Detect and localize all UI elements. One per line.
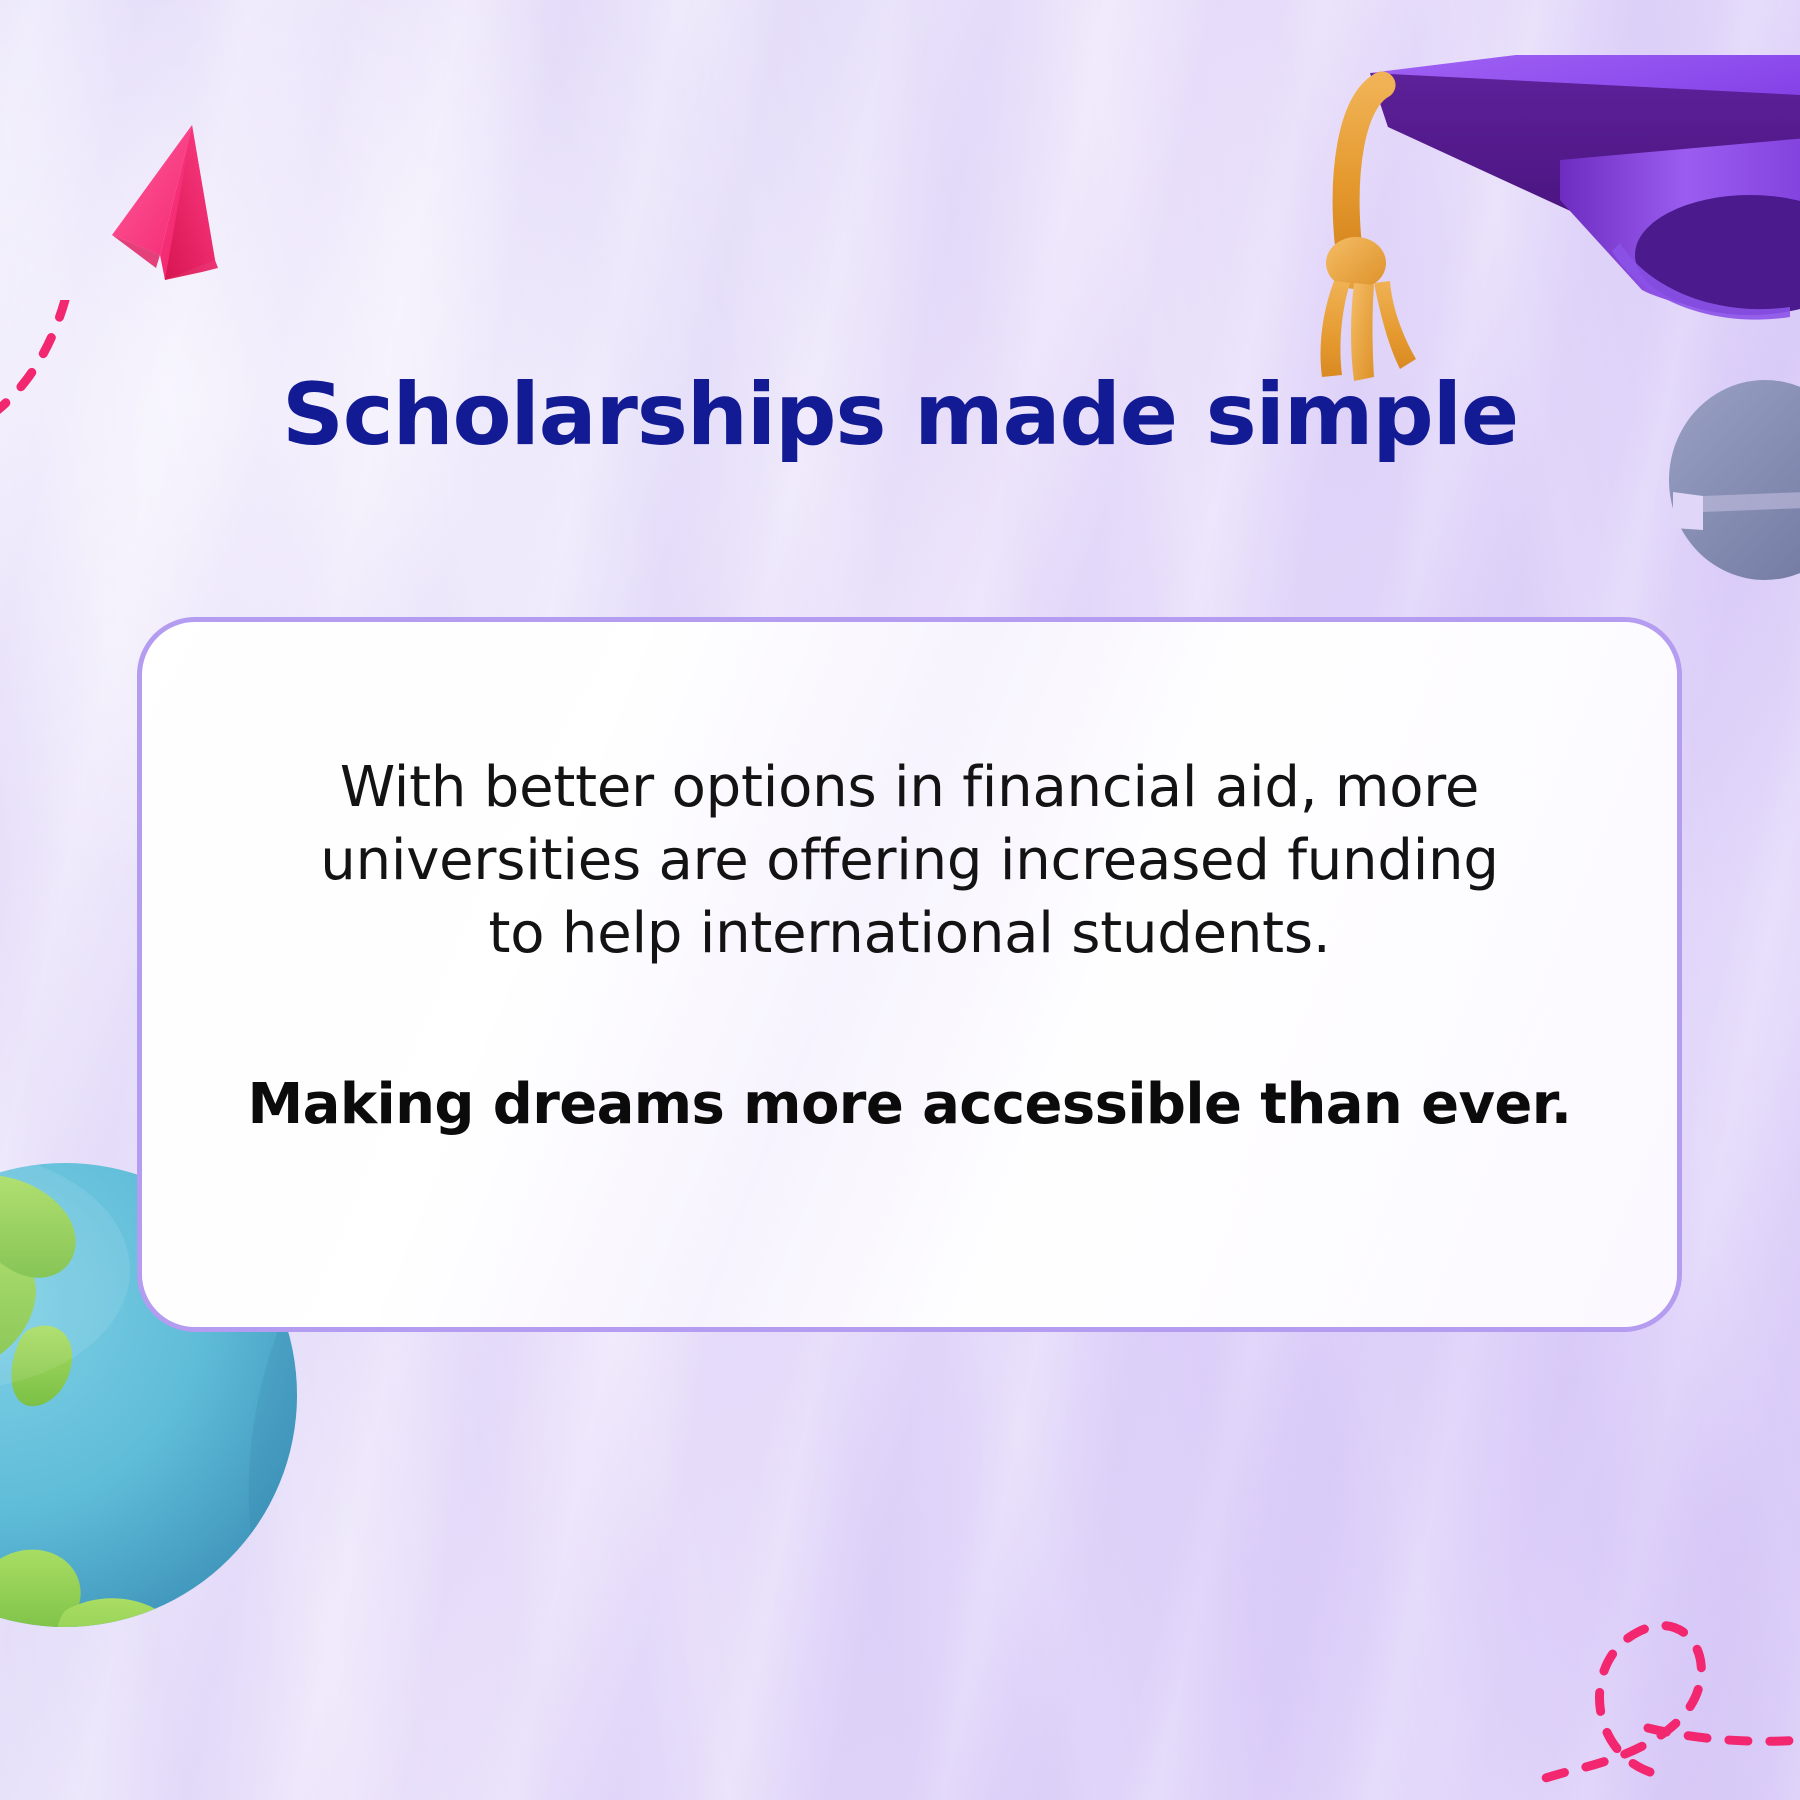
body-line-2: universities are offering increased fund… (142, 825, 1677, 898)
card-body-copy: With better options in financial aid, mo… (142, 752, 1677, 970)
graduation-cap-icon (1320, 55, 1800, 415)
page-title: Scholarships made simple (0, 372, 1800, 458)
paper-plane-icon (70, 120, 245, 325)
body-line-3: to help international students. (142, 898, 1677, 971)
body-line-1: With better options in financial aid, mo… (142, 752, 1677, 825)
content-card: With better options in financial aid, mo… (137, 617, 1682, 1332)
card-tagline: Making dreams more accessible than ever. (142, 1072, 1677, 1137)
dashed-loop-icon (1530, 1540, 1800, 1800)
poster-canvas: Scholarships made simple With better opt… (0, 0, 1800, 1800)
